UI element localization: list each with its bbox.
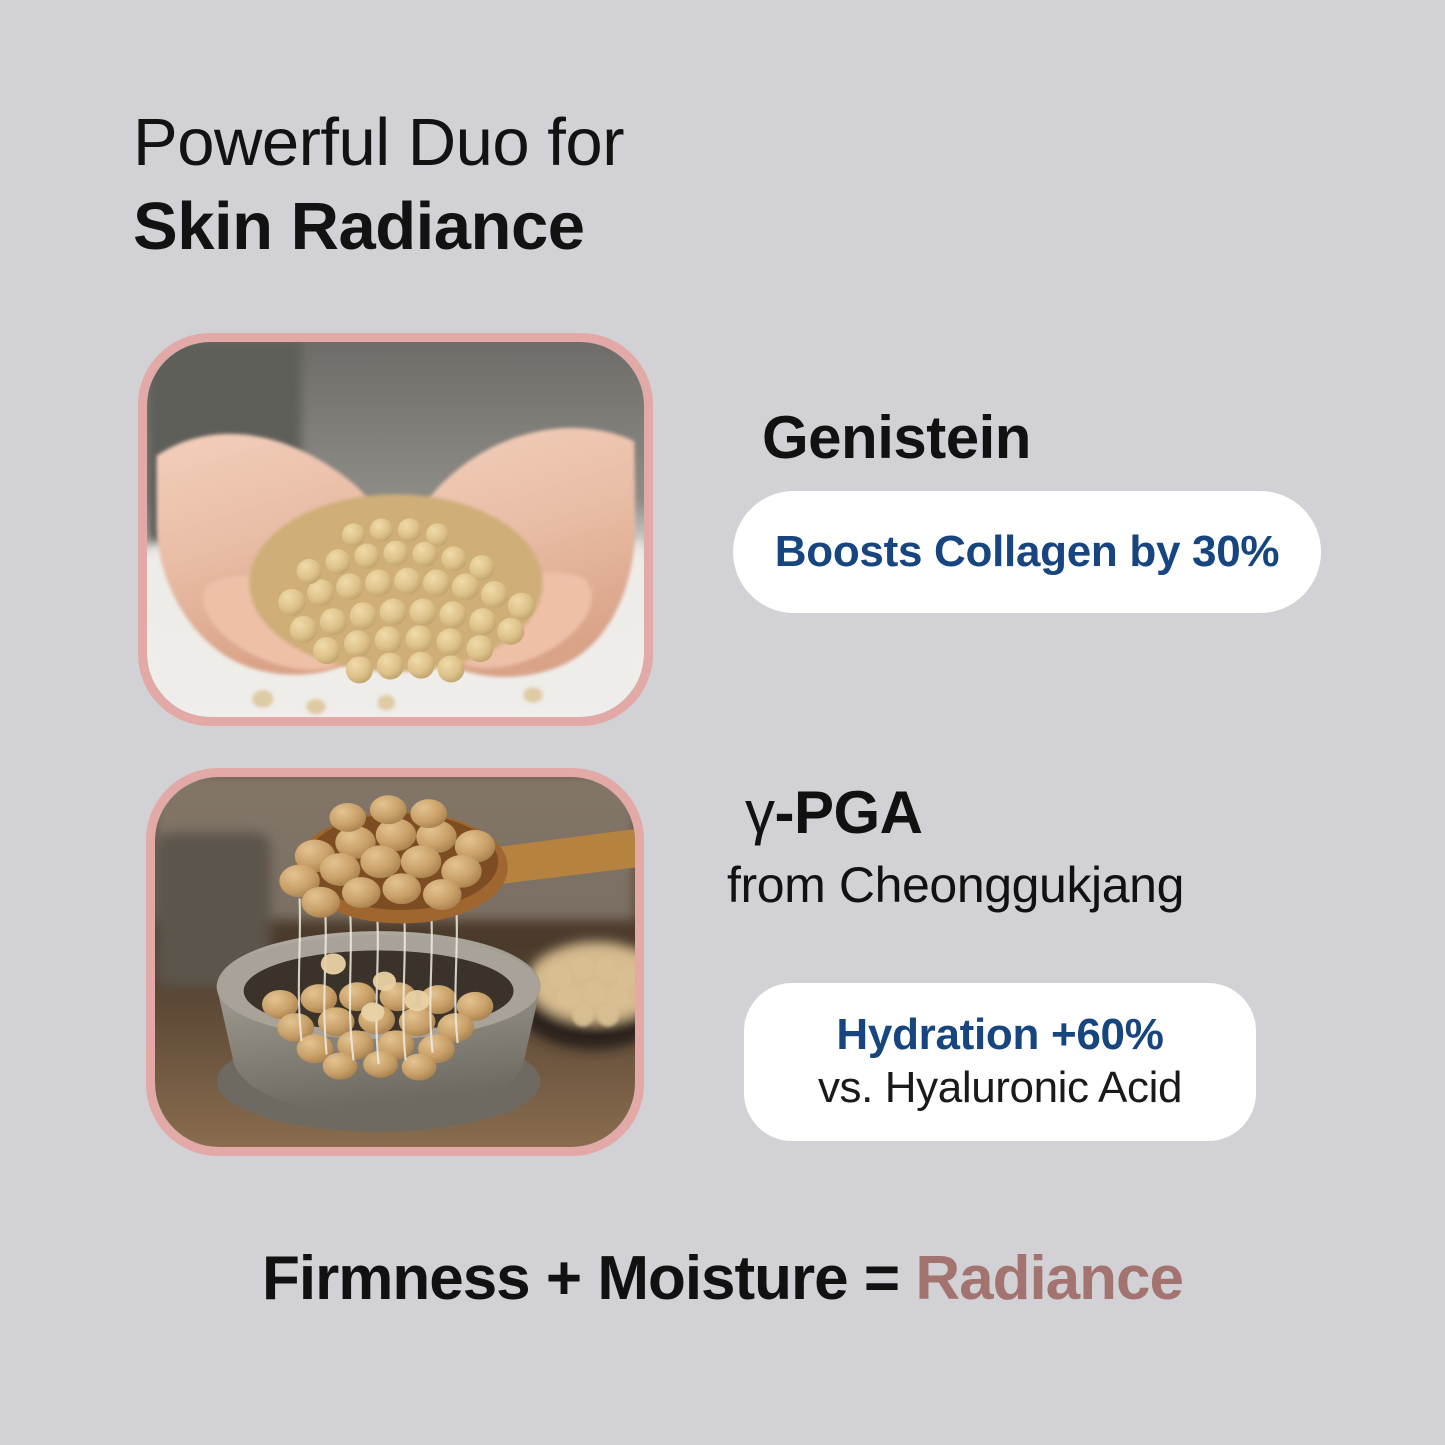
ingredient-title-gamma-pga: γ-PGA xyxy=(745,778,923,847)
page-title: Powerful Duo for Skin Radiance xyxy=(133,104,1033,265)
gamma-pga-benefit-secondary: vs. Hyaluronic Acid xyxy=(818,1063,1182,1114)
gamma-symbol: γ xyxy=(745,779,775,846)
ingredient-row-genistein: Genistein Boosts Collagen by 30% xyxy=(0,333,1445,733)
page-title-line2: Skin Radiance xyxy=(133,188,1033,266)
genistein-benefit-primary: Boosts Collagen by 30% xyxy=(775,527,1279,577)
page-title-line1: Powerful Duo for xyxy=(133,104,1033,182)
gamma-pga-benefit-primary: Hydration +60% xyxy=(836,1011,1163,1059)
footer-equation: Firmness + Moisture = Radiance xyxy=(0,1243,1445,1314)
genistein-benefit-pill: Boosts Collagen by 30% xyxy=(733,491,1321,613)
ingredient-title-genistein: Genistein xyxy=(762,403,1031,472)
footer-equation-dark: Firmness + Moisture = xyxy=(262,1244,915,1313)
pga-label: -PGA xyxy=(775,779,923,846)
ingredient-infographic: Powerful Duo for Skin Radiance xyxy=(0,0,1445,1445)
genistein-photo xyxy=(147,342,644,717)
footer-equation-accent: Radiance xyxy=(915,1244,1183,1313)
genistein-photo-frame xyxy=(138,333,653,726)
gamma-pga-benefit-pill: Hydration +60% vs. Hyaluronic Acid xyxy=(744,983,1256,1141)
gamma-pga-photo-frame xyxy=(146,768,644,1156)
ingredient-subtitle-gamma-pga: from Cheonggukjang xyxy=(727,856,1184,914)
gamma-pga-photo xyxy=(155,777,635,1147)
ingredient-row-gamma-pga: γ-PGA from Cheonggukjang Hydration +60% … xyxy=(0,768,1445,1158)
